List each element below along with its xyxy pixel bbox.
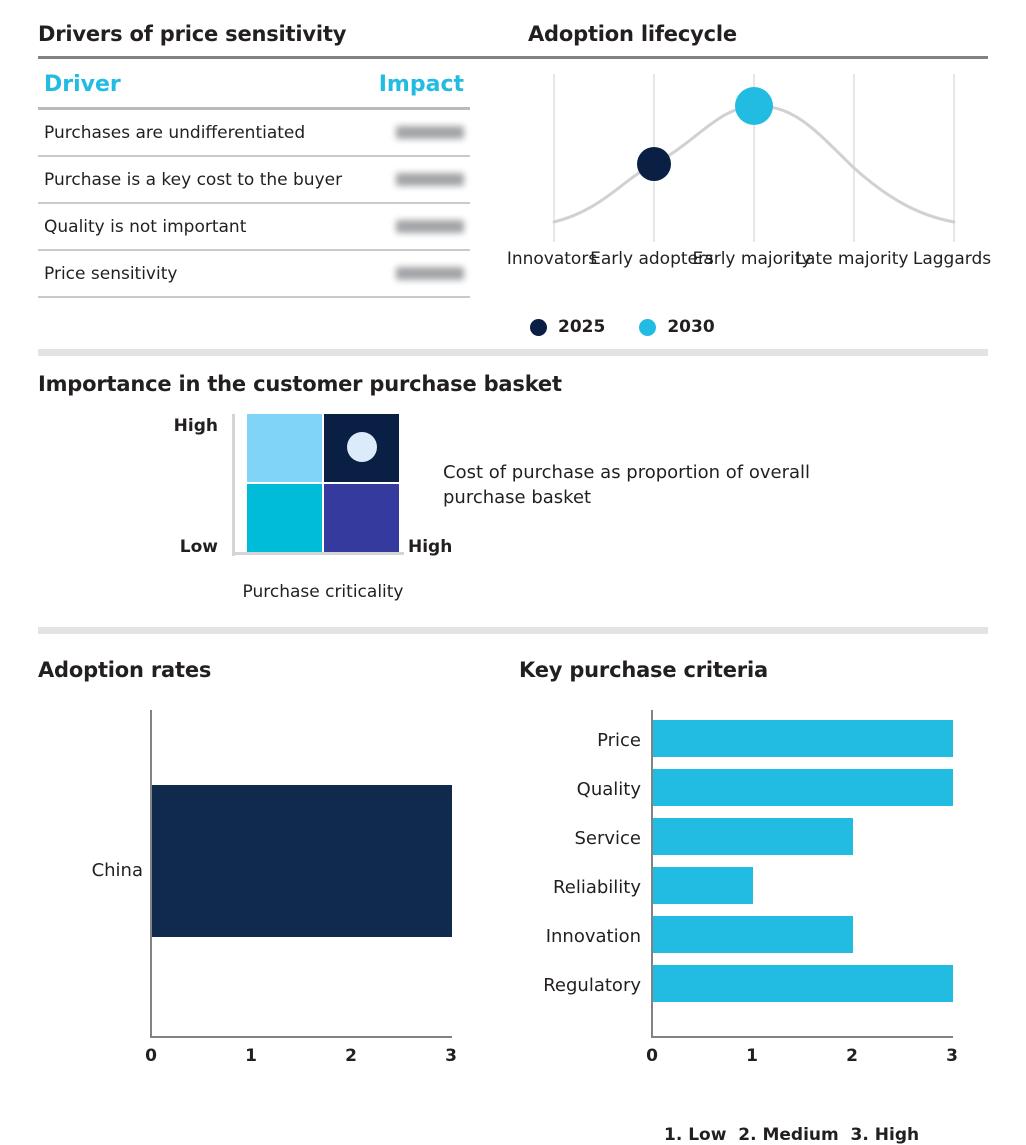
- key-criteria-label-price: Price: [519, 730, 641, 751]
- key-criteria-bar-service[interactable]: [653, 818, 853, 855]
- x-tick-2: 2: [331, 1046, 371, 1066]
- key-criteria-x-axis-line: [651, 1036, 953, 1038]
- key-criteria-bar-quality[interactable]: [653, 769, 953, 806]
- driver-label: Quality is not important: [44, 217, 360, 237]
- key-criteria-label-service: Service: [519, 828, 641, 849]
- adoption-rates-chart: China 0 1 2 3: [38, 710, 498, 1072]
- slide-page: Drivers of price sensitivity Adoption li…: [0, 0, 1026, 1124]
- matrix-x-axis-line: [232, 552, 404, 555]
- adoption-rates-x-ticks: 0 1 2 3: [38, 1046, 458, 1072]
- table-row[interactable]: Price sensitivity: [38, 251, 470, 298]
- x-tick-0: 0: [131, 1046, 171, 1066]
- redacted-value-block: [396, 126, 464, 139]
- lifecycle-x-axis-labels: Innovators Early adopters Early majority…: [500, 249, 1000, 297]
- key-criteria-bar-reliability[interactable]: [653, 867, 753, 904]
- key-criteria-bar-regulatory[interactable]: [653, 965, 953, 1002]
- matrix-x-label-high: High: [408, 537, 452, 557]
- matrix-grid: High Low High Purchase criticality: [38, 420, 418, 565]
- adoption-rates-category-label: China: [38, 860, 143, 881]
- adoption-rates-plot-area: China: [38, 710, 458, 1040]
- lifecycle-tick-laggards: Laggards: [882, 249, 1022, 270]
- adoption-rates-bar-china[interactable]: [152, 785, 452, 937]
- x-tick-2: 2: [832, 1046, 872, 1066]
- key-criteria-x-ticks: 0 1 2 3: [519, 1046, 989, 1072]
- adoption-rates-x-axis-line: [150, 1036, 452, 1038]
- section-divider-band-1: [38, 349, 988, 356]
- redacted-value-block: [396, 173, 464, 186]
- impact-value: [360, 267, 464, 280]
- driver-label: Price sensitivity: [44, 264, 360, 284]
- matrix-y-label-low: Low: [138, 537, 218, 557]
- matrix-quadrant-bottom-left[interactable]: [247, 484, 322, 552]
- purchase-basket-matrix: High Low High Purchase criticality: [38, 420, 418, 565]
- lifecycle-legend: 2025 2030: [530, 317, 715, 337]
- matrix-quadrant-top-right[interactable]: [324, 414, 399, 482]
- drivers-table: Driver Impact Purchases are undifferenti…: [38, 68, 470, 298]
- column-header-impact: Impact: [354, 72, 464, 97]
- legend-item-2025[interactable]: 2025: [530, 317, 605, 337]
- matrix-caption: Purchase criticality: [188, 582, 458, 602]
- legend-item-2030[interactable]: 2030: [639, 317, 714, 337]
- matrix-note-text: Cost of purchase as proportion of overal…: [443, 460, 863, 510]
- matrix-y-label-high: High: [138, 416, 218, 436]
- legend-dot-icon: [530, 319, 547, 336]
- x-tick-3: 3: [431, 1046, 471, 1066]
- lifecycle-curve-svg: [502, 70, 1002, 245]
- legend-dot-icon: [639, 319, 656, 336]
- top-section-divider: [38, 56, 988, 59]
- driver-label: Purchases are undifferentiated: [44, 123, 360, 143]
- key-criteria-bar-innovation[interactable]: [653, 916, 853, 953]
- legend-label-2030: 2030: [667, 317, 714, 337]
- table-row[interactable]: Quality is not important: [38, 204, 470, 251]
- key-criteria-title: Key purchase criteria: [519, 658, 768, 682]
- x-tick-1: 1: [732, 1046, 772, 1066]
- matrix-quadrants: [247, 414, 399, 552]
- drivers-panel-title: Drivers of price sensitivity: [38, 22, 528, 46]
- table-row[interactable]: Purchase is a key cost to the buyer: [38, 157, 470, 204]
- legend-label-2025: 2025: [558, 317, 605, 337]
- matrix-position-marker-icon: [347, 432, 377, 462]
- drivers-table-header: Driver Impact: [38, 68, 470, 107]
- matrix-quadrant-bottom-right[interactable]: [324, 484, 399, 552]
- adoption-lifecycle-chart: Innovators Early adopters Early majority…: [500, 70, 1010, 297]
- key-criteria-label-innovation: Innovation: [519, 926, 641, 947]
- key-criteria-footnote: 1. Low 2. Medium 3. High: [664, 1125, 919, 1145]
- key-criteria-label-regulatory: Regulatory: [519, 975, 641, 996]
- importance-section-title: Importance in the customer purchase bask…: [38, 372, 562, 396]
- section-divider-band-2: [38, 627, 988, 634]
- lifecycle-panel-title: Adoption lifecycle: [528, 22, 988, 46]
- driver-label: Purchase is a key cost to the buyer: [44, 170, 360, 190]
- key-criteria-plot-area: Price Quality Service Reliability Innova: [519, 710, 989, 1040]
- key-criteria-bar-price[interactable]: [653, 720, 953, 757]
- adoption-rates-title: Adoption rates: [38, 658, 211, 682]
- key-purchase-criteria-chart: Price Quality Service Reliability Innova: [519, 710, 1019, 1072]
- impact-value: [360, 126, 464, 139]
- impact-value: [360, 173, 464, 186]
- key-criteria-label-quality: Quality: [519, 779, 641, 800]
- x-tick-3: 3: [932, 1046, 972, 1066]
- key-criteria-label-reliability: Reliability: [519, 877, 641, 898]
- impact-value: [360, 220, 464, 233]
- x-tick-0: 0: [632, 1046, 672, 1066]
- column-header-driver: Driver: [44, 72, 354, 97]
- matrix-quadrant-top-left[interactable]: [247, 414, 322, 482]
- marker-2030: [735, 87, 773, 125]
- top-section-titles: Drivers of price sensitivity Adoption li…: [38, 22, 988, 46]
- redacted-value-block: [396, 267, 464, 280]
- redacted-value-block: [396, 220, 464, 233]
- table-row[interactable]: Purchases are undifferentiated: [38, 110, 470, 157]
- x-tick-1: 1: [231, 1046, 271, 1066]
- lifecycle-plot-area: [502, 70, 1002, 245]
- marker-2025: [637, 147, 671, 181]
- matrix-y-axis-line: [232, 414, 235, 556]
